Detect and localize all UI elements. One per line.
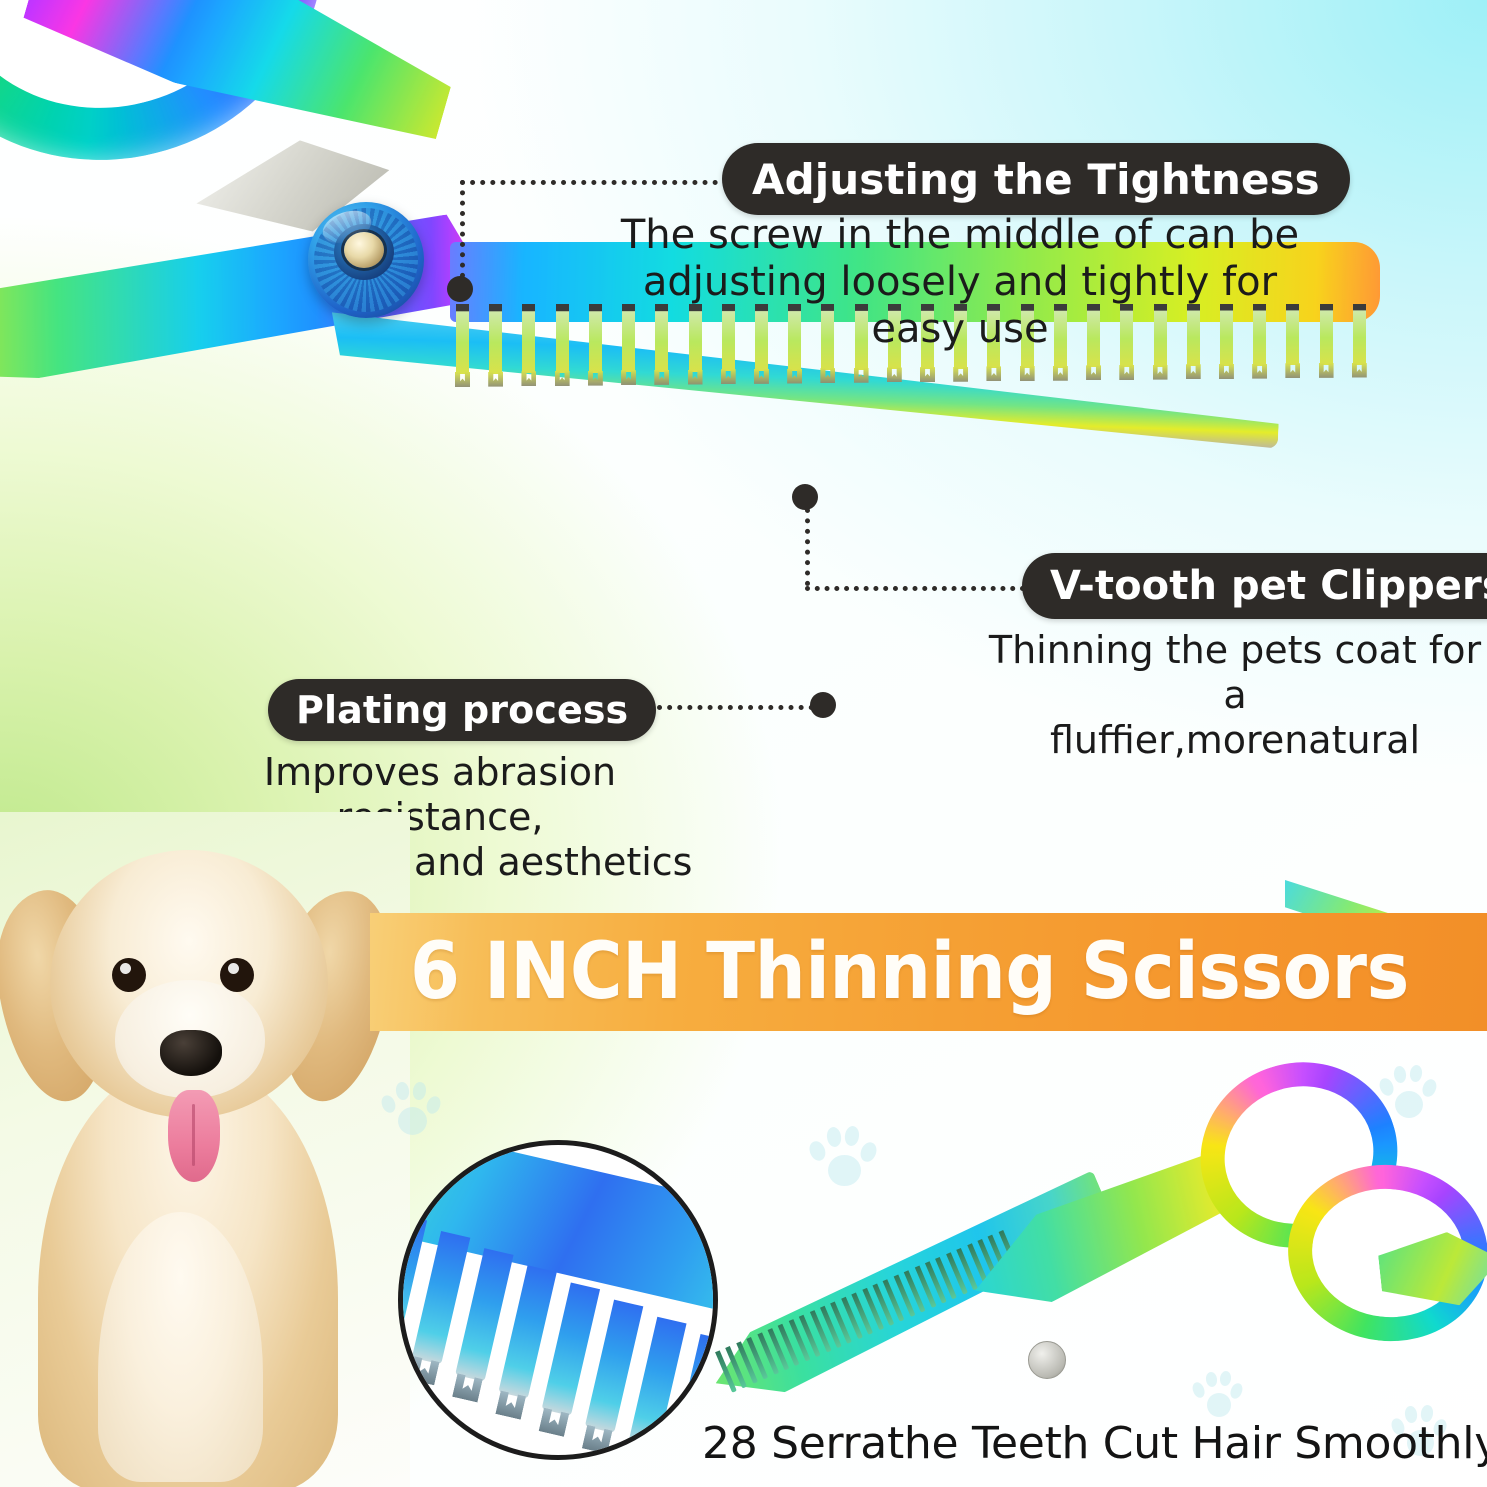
- comb-closeup-inset: [398, 1140, 718, 1460]
- scissors-closed-illustration: [690, 1055, 1480, 1435]
- callout-leader-vertical-adjusting-tightness: [460, 180, 465, 278]
- dog-eye-left: [112, 958, 146, 992]
- thinning-blade-teeth: [711, 1225, 1038, 1409]
- callout-marker-adjusting-tightness: [447, 276, 473, 302]
- product-title-banner: 6 INCH Thinning Scissors: [370, 913, 1487, 1031]
- callout-description-adjusting-tightness: The screw in the middle of can be adjust…: [600, 212, 1320, 354]
- paw-pad: [379, 1093, 398, 1115]
- callout-badge-v-tooth: V-tooth pet Clippers: [1022, 553, 1487, 619]
- callout-leader-vertical-v-tooth: [805, 508, 810, 586]
- banner-title-text: 6 INCH Thinning Scissors: [410, 933, 1409, 1011]
- dog-photo: [0, 812, 410, 1487]
- callout-marker-v-tooth: [792, 484, 818, 510]
- callout-badge-label: V-tooth pet Clippers: [1050, 563, 1487, 609]
- comb-tooth: [489, 304, 502, 374]
- paw-pad: [395, 1081, 410, 1100]
- comb-tooth: [522, 304, 535, 373]
- callout-badge-plating-process: Plating process: [268, 679, 656, 741]
- dog-eye-right: [220, 958, 254, 992]
- callout-badge-label: Adjusting the Tightness: [752, 155, 1320, 204]
- paw-pad: [398, 1107, 427, 1135]
- callout-badge-adjusting-tightness: Adjusting the Tightness: [722, 143, 1350, 215]
- comb-tooth: [1320, 304, 1333, 365]
- product-infographic: Adjusting the Tightness The screw in the…: [0, 0, 1487, 1487]
- dog-nose: [160, 1030, 222, 1076]
- callout-leader-horizontal-adjusting-tightness: [460, 180, 728, 185]
- scissors-pivot-screw: [1028, 1341, 1066, 1379]
- dog-tongue: [168, 1090, 220, 1182]
- paw-pad: [412, 1081, 427, 1100]
- paw-print-icon: [378, 1078, 444, 1148]
- tension-screw: [308, 202, 424, 318]
- comb-tooth: [556, 304, 569, 373]
- comb-tooth: [1353, 304, 1366, 365]
- callout-description-v-tooth: Thinning the pets coat for a fluffier,mo…: [985, 628, 1485, 762]
- callout-badge-label: Plating process: [296, 688, 628, 732]
- callout-leader-horizontal-v-tooth: [805, 586, 1035, 591]
- paw-pad: [424, 1094, 443, 1116]
- bottom-caption: 28 Serrathe Teeth Cut Hair Smoothly: [702, 1418, 1487, 1469]
- comb-tooth: [456, 304, 469, 374]
